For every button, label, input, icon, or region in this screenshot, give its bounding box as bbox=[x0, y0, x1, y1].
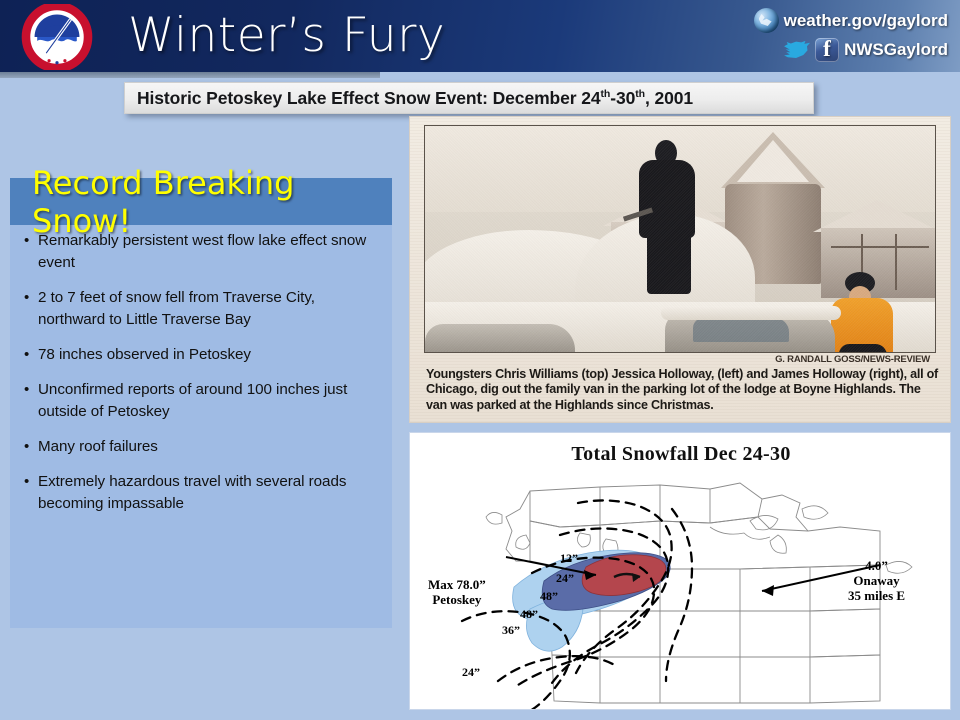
header-underline bbox=[0, 72, 380, 78]
map-title: Total Snowfall Dec 24-30 bbox=[410, 443, 952, 466]
bullet-marker: • bbox=[24, 436, 38, 458]
photo-grain bbox=[425, 126, 935, 352]
bullet-list: • Remarkably persistent west flow lake e… bbox=[10, 230, 392, 528]
map-max-line-2: Petoskey bbox=[432, 592, 481, 607]
bullet-text: Unconfirmed reports of around 100 inches… bbox=[38, 379, 380, 423]
social-handle-label: NWSGaylord bbox=[844, 40, 948, 60]
bullet-marker: • bbox=[24, 379, 38, 423]
slide-header: Winter’s Fury weather.gov/gaylord NWSGay… bbox=[0, 0, 960, 72]
bullet-marker: • bbox=[24, 230, 38, 274]
record-snow-heading-band: Record Breaking Snow! bbox=[10, 178, 392, 225]
map-onaway-line-3: 35 miles E bbox=[848, 588, 905, 603]
contour-label: 48” bbox=[520, 607, 538, 622]
map-onaway-label: 4.0” Onaway 35 miles E bbox=[848, 559, 905, 604]
contour-label: 24” bbox=[462, 665, 480, 680]
photo-credit: G. RANDALL GOSS/NEWS-REVIEW bbox=[775, 354, 930, 365]
subtitle-bar: Historic Petoskey Lake Effect Snow Event… bbox=[124, 82, 814, 114]
contour-label: 48” bbox=[540, 589, 558, 604]
globe-icon bbox=[754, 8, 779, 33]
page-title: Winter’s Fury bbox=[128, 8, 445, 63]
record-snow-panel: Record Breaking Snow! • Remarkably persi… bbox=[10, 178, 392, 628]
contour-label: 24” bbox=[556, 571, 574, 586]
news-photo bbox=[424, 125, 936, 353]
snowfall-map-panel: Total Snowfall Dec 24-30 bbox=[409, 432, 951, 710]
contour-label: 36” bbox=[502, 623, 520, 638]
record-snow-heading: Record Breaking Snow! bbox=[10, 164, 392, 240]
bullet-text: 78 inches observed in Petoskey bbox=[38, 344, 251, 366]
social-links: weather.gov/gaylord NWSGaylord bbox=[688, 6, 948, 68]
bullet-marker: • bbox=[24, 344, 38, 366]
subtitle-mid: -30 bbox=[610, 88, 635, 108]
list-item: • Extremely hazardous travel with severa… bbox=[24, 471, 380, 515]
subtitle-sup-2: th bbox=[635, 88, 645, 100]
list-item: • Many roof failures bbox=[24, 436, 380, 458]
map-max-label: Max 78.0” Petoskey bbox=[428, 578, 486, 608]
subtitle-prefix: Historic Petoskey Lake Effect Snow Event… bbox=[137, 88, 601, 108]
list-item: • Unconfirmed reports of around 100 inch… bbox=[24, 379, 380, 423]
subtitle-text: Historic Petoskey Lake Effect Snow Event… bbox=[125, 88, 693, 109]
bullet-marker: • bbox=[24, 471, 38, 515]
map-onaway-line-1: 4.0” bbox=[865, 558, 888, 573]
facebook-icon[interactable] bbox=[815, 38, 839, 62]
map-onaway-line-2: Onaway bbox=[853, 573, 899, 588]
list-item: • 78 inches observed in Petoskey bbox=[24, 344, 380, 366]
bullet-text: Remarkably persistent west flow lake eff… bbox=[38, 230, 380, 274]
nws-logo bbox=[18, 4, 96, 70]
list-item: • 2 to 7 feet of snow fell from Traverse… bbox=[24, 287, 380, 331]
subtitle-sup-1: th bbox=[601, 88, 611, 100]
twitter-icon[interactable] bbox=[784, 39, 810, 61]
bullet-text: Extremely hazardous travel with several … bbox=[38, 471, 380, 515]
contour-label: 12” bbox=[560, 551, 578, 566]
bullet-marker: • bbox=[24, 287, 38, 331]
website-label: weather.gov/gaylord bbox=[784, 11, 948, 31]
photo-caption: Youngsters Chris Williams (top) Jessica … bbox=[426, 367, 938, 413]
bullet-text: Many roof failures bbox=[38, 436, 158, 458]
website-row[interactable]: weather.gov/gaylord bbox=[688, 6, 948, 35]
list-item: • Remarkably persistent west flow lake e… bbox=[24, 230, 380, 274]
subtitle-suffix: , 2001 bbox=[645, 88, 693, 108]
newspaper-clipping: NationMondayweatherrecordssnowfall G. RA… bbox=[409, 116, 951, 423]
bullet-text: 2 to 7 feet of snow fell from Traverse C… bbox=[38, 287, 380, 331]
social-handle-row[interactable]: NWSGaylord bbox=[688, 35, 948, 64]
map-max-line-1: Max 78.0” bbox=[428, 577, 486, 592]
